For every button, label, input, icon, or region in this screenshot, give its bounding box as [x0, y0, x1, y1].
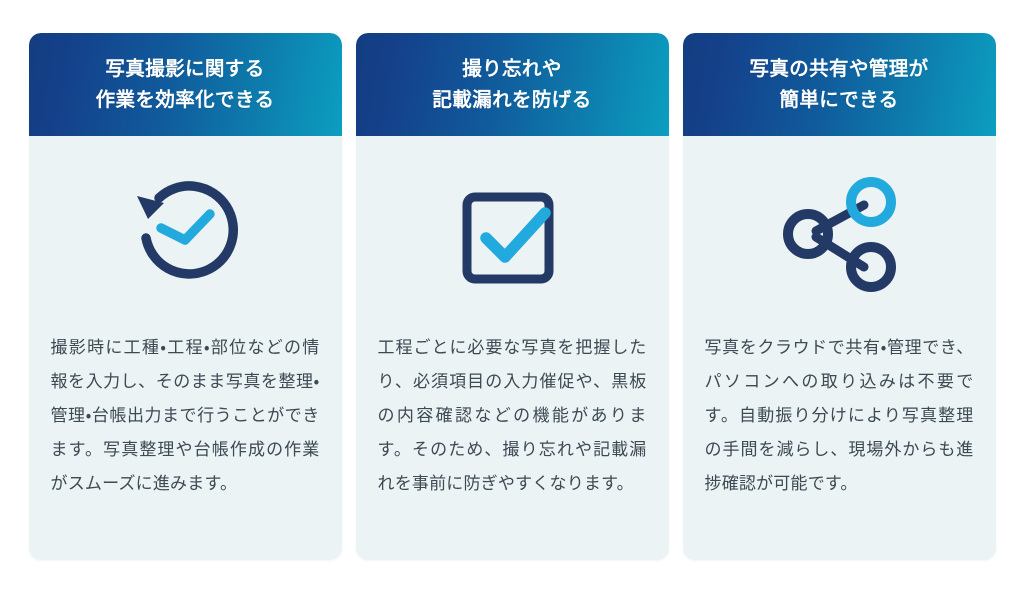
- card-header-efficiency: 写真撮影に関する 作業を効率化できる: [29, 33, 342, 136]
- checkbox-checked-icon: [453, 175, 571, 293]
- feature-card-share-manage: 写真の共有や管理が 簡単にできる 写真をクラウドで共有・管理でき、パソコンへの取…: [683, 33, 996, 560]
- card-header-prevent-omission: 撮り忘れや 記載漏れを防げる: [356, 33, 669, 136]
- card-title-efficiency: 写真撮影に関する 作業を効率化できる: [96, 54, 275, 114]
- card-icon-area-efficiency: [29, 136, 342, 331]
- card-body-efficiency: 撮影時に工種・工程・部位などの情報を入力し、そのまま写真を整理・管理・台帳出力ま…: [29, 331, 342, 560]
- card-description-prevent-omission: 工程ごとに必要な写真を把握したり、必須項目の入力催促や、黒板の内容確認などの機能…: [378, 331, 647, 501]
- card-description-share-manage: 写真をクラウドで共有・管理でき、パソコンへの取り込みは不要です。自動振り分けによ…: [705, 331, 974, 501]
- card-icon-area-prevent-omission: [356, 136, 669, 331]
- clock-refresh-icon: [123, 172, 247, 296]
- feature-card-prevent-omission: 撮り忘れや 記載漏れを防げる 工程ごとに必要な写真を把握したり、必須項目の入力催…: [356, 33, 669, 560]
- share-nodes-icon: [776, 175, 902, 293]
- card-description-efficiency: 撮影時に工種・工程・部位などの情報を入力し、そのまま写真を整理・管理・台帳出力ま…: [51, 331, 320, 501]
- feature-cards-board: 写真撮影に関する 作業を効率化できる 撮影時に工種・工程・部位などの情報を入力し…: [0, 0, 1024, 600]
- card-title-prevent-omission: 撮り忘れや 記載漏れを防げる: [432, 54, 591, 114]
- card-header-share-manage: 写真の共有や管理が 簡単にできる: [683, 33, 996, 136]
- card-title-share-manage: 写真の共有や管理が 簡単にできる: [749, 54, 928, 114]
- card-body-prevent-omission: 工程ごとに必要な写真を把握したり、必須項目の入力催促や、黒板の内容確認などの機能…: [356, 331, 669, 560]
- card-icon-area-share-manage: [683, 136, 996, 331]
- card-body-share-manage: 写真をクラウドで共有・管理でき、パソコンへの取り込みは不要です。自動振り分けによ…: [683, 331, 996, 560]
- feature-card-efficiency: 写真撮影に関する 作業を効率化できる 撮影時に工種・工程・部位などの情報を入力し…: [29, 33, 342, 560]
